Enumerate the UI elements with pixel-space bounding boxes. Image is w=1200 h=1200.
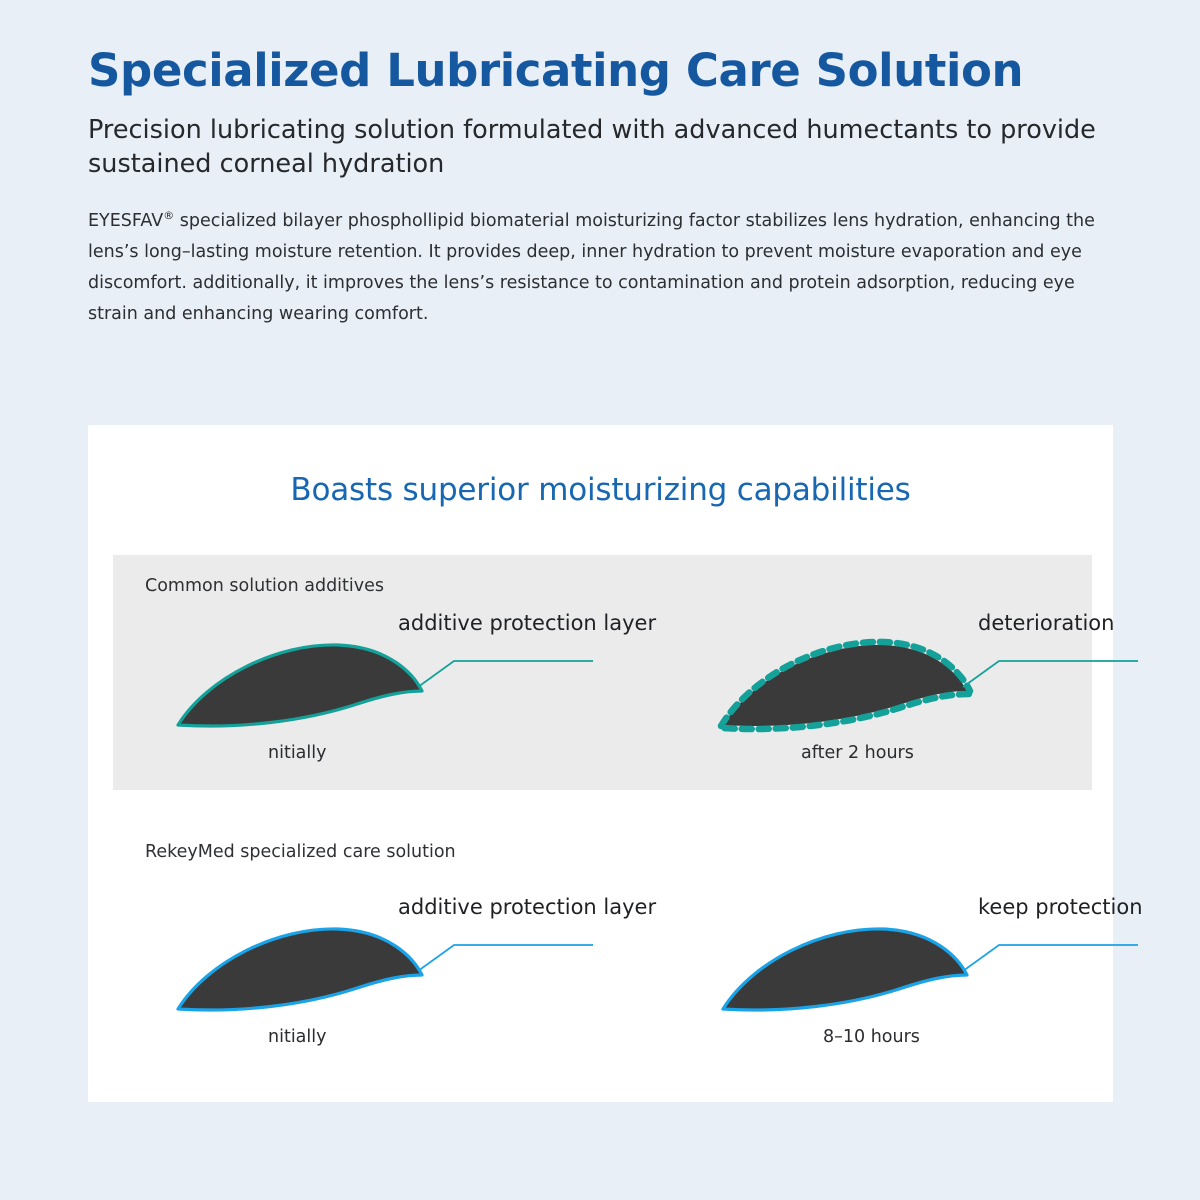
page-subtitle: Precision lubricating solution formulate… (88, 114, 1146, 181)
figure-common-initial: additive protection layer nitially (168, 625, 608, 775)
comparison-card: Boasts superior moisturizing capabilitie… (88, 425, 1113, 1102)
panel-common-solution: Common solution additives additive prote… (113, 555, 1092, 790)
figure-rekeymed-initial: additive protection layer nitially (168, 909, 608, 1059)
callout-label-keep-protection: keep protection (978, 895, 1143, 919)
leader-line (418, 945, 593, 971)
callout-label-deterioration: deterioration (978, 611, 1114, 635)
body-paragraph: EYESFAV® specialized bilayer phosphollip… (88, 206, 1128, 331)
callout-label-protection-layer: additive protection layer (398, 611, 656, 635)
panel-label-common: Common solution additives (145, 576, 384, 596)
lens-body (723, 929, 967, 1010)
caption-initial: nitially (268, 1027, 326, 1047)
caption-8-10-hours: 8–10 hours (823, 1027, 920, 1047)
lens-body (178, 929, 422, 1010)
leader-line (963, 945, 1138, 971)
lens-diagram-common-deteriorated (713, 625, 1153, 775)
caption-after-2-hours: after 2 hours (801, 743, 914, 763)
card-title: Boasts superior moisturizing capabilitie… (88, 425, 1113, 508)
caption-initial: nitially (268, 743, 326, 763)
figure-rekeymed-8-10-hours: keep protection 8–10 hours (713, 909, 1153, 1059)
leader-line (418, 661, 593, 687)
lens-diagram-rekeymed-protected (713, 909, 1153, 1059)
callout-label-protection-layer: additive protection layer (398, 895, 656, 919)
panel-label-rekeymed: RekeyMed specialized care solution (145, 842, 456, 862)
lens-diagram-rekeymed-initial (168, 909, 608, 1059)
registered-trademark-icon: ® (163, 209, 174, 222)
figure-common-after-2-hours: deterioration after 2 hours (713, 625, 1153, 775)
infographic-page: Specialized Lubricating Care Solution Pr… (0, 0, 1200, 1200)
body-paragraph-text: specialized bilayer phosphollipid biomat… (88, 211, 1095, 324)
lens-diagram-common-initial (168, 625, 608, 775)
page-title: Specialized Lubricating Care Solution (88, 46, 1148, 96)
brand-name: EYESFAV (88, 211, 163, 231)
header-block: Specialized Lubricating Care Solution Pr… (88, 46, 1148, 330)
leader-line (963, 661, 1138, 687)
lens-body (178, 645, 422, 726)
panel-rekeymed-solution: RekeyMed specialized care solution addit… (113, 817, 1092, 1079)
